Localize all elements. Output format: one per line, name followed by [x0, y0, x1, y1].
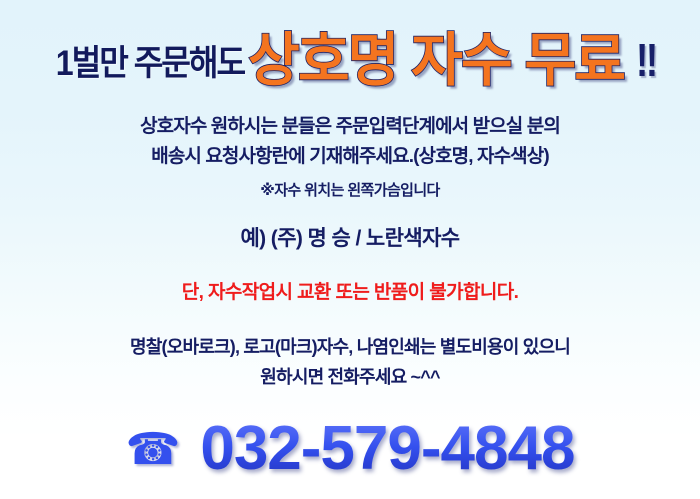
- headline: 1벌만 주문해도 상호명 자수 무료 !!: [0, 14, 700, 96]
- instruction-line-1: 상호자수 원하시는 분들은 주문입력단계에서 받으실 분의: [0, 112, 700, 142]
- promo-banner: 1벌만 주문해도 상호명 자수 무료 !! 상호자수 원하시는 분들은 주문입력…: [0, 0, 700, 499]
- return-policy-warning: 단, 자수작업시 교환 또는 반품이 불가합니다.: [0, 278, 700, 308]
- body-copy: 상호자수 원하시는 분들은 주문입력단계에서 받으실 분의 배송시 요청사항란에…: [0, 112, 700, 392]
- embroidery-position-note: ※자수 위치는 왼쪽가슴입니다: [0, 177, 700, 205]
- instruction-line-2-rest: 해주세요.(상호명, 자수색상): [342, 146, 548, 167]
- example-line: 예) (주) 명 승 / 노란색자수: [0, 224, 700, 254]
- extra-cost-notice: 명찰(오바로크), 로고(마크)자수, 나염인쇄는 별도비용이 있으니 원하시면…: [0, 332, 700, 392]
- telephone-icon: ☎: [126, 428, 181, 472]
- extra-cost-line-1: 명찰(오바로크), 로고(마크)자수, 나염인쇄는 별도비용이 있으니: [0, 332, 700, 362]
- instruction-line-2-bold: 배송시 요청사항란에 기재: [151, 146, 342, 167]
- instruction-line-2: 배송시 요청사항란에 기재해주세요.(상호명, 자수색상): [0, 142, 700, 172]
- headline-exclamation: !!: [636, 33, 656, 87]
- phone-number[interactable]: 032-579-4848: [200, 413, 574, 484]
- contact-phone[interactable]: ☎ 032-579-4848: [0, 409, 700, 487]
- headline-lead-text: 1벌만 주문해도: [56, 35, 248, 86]
- extra-cost-line-2: 원하시면 전화주세요 ~^^: [0, 362, 700, 392]
- headline-main-text: 상호명 자수 무료: [248, 13, 624, 97]
